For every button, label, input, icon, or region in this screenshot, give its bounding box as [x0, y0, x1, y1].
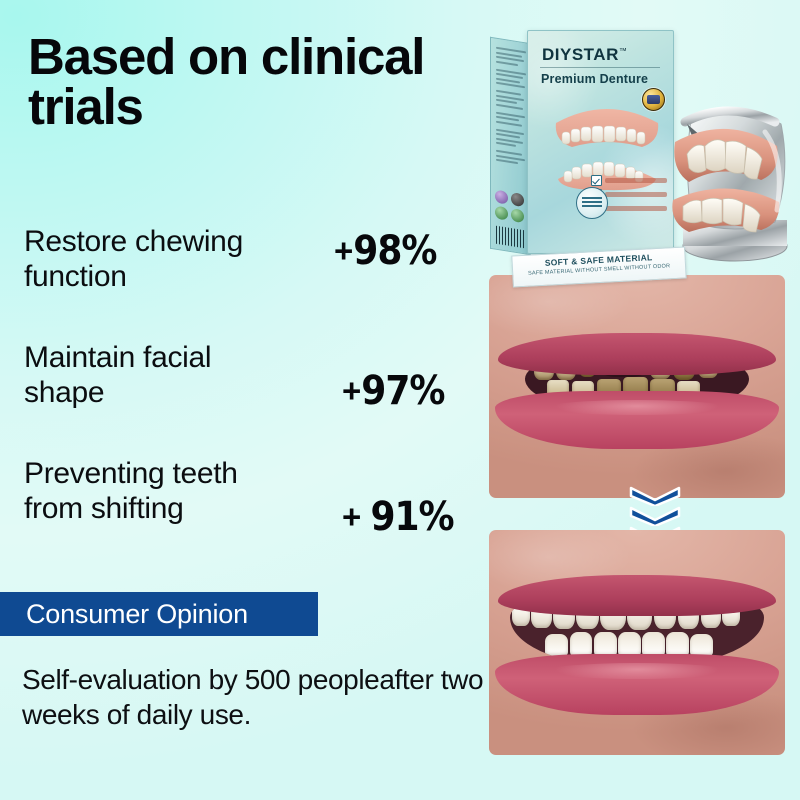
- plus-sign-2: +: [342, 372, 361, 409]
- package-barcode: [496, 226, 526, 249]
- before-photo: [489, 275, 785, 498]
- page-title: Based on clinical trials: [28, 32, 488, 132]
- product-package: DIYSTAR™ Premium Denture: [487, 22, 800, 277]
- dental-model: [657, 80, 797, 265]
- trademark-symbol: ™: [619, 46, 628, 55]
- percent-value-1: 98%: [353, 228, 436, 274]
- after-photo: [489, 530, 785, 755]
- chevron-down-icon: [627, 486, 683, 506]
- after-upper-lip: [498, 575, 776, 616]
- product-subtitle: Premium Denture: [541, 72, 648, 86]
- consumer-opinion-band: Consumer Opinion: [0, 592, 318, 636]
- benefit-percent-3: + 91%: [342, 494, 454, 540]
- certification-emblem-icon: [576, 187, 608, 219]
- benefit-label-1: Restore chewing function: [24, 224, 324, 294]
- before-upper-lip: [498, 333, 776, 375]
- package-instructions-text: [496, 47, 526, 168]
- package-front-panel: DIYSTAR™ Premium Denture: [527, 30, 674, 254]
- check-icon: [591, 175, 602, 186]
- plus-sign-3: +: [342, 498, 370, 535]
- percent-value-2: 97%: [361, 368, 444, 414]
- chevron-down-icon: [627, 506, 683, 526]
- consumer-opinion-label: Consumer Opinion: [26, 599, 248, 630]
- brand-text: DIYSTAR: [542, 45, 619, 64]
- benefit-percent-2: +97%: [342, 368, 444, 414]
- benefit-label-3: Preventing teeth from shifting: [24, 456, 324, 526]
- package-side-panel: [490, 37, 531, 255]
- brand-name: DIYSTAR™: [542, 45, 627, 65]
- promo-poster: Based on clinical trials Restore chewing…: [0, 0, 800, 800]
- benefit-label-2: Maintain facial shape: [24, 340, 324, 410]
- consumer-opinion-body: Self-evaluation by 500 peopleafter two w…: [22, 662, 492, 732]
- benefit-percent-1: +98%: [334, 228, 436, 274]
- feature-check-item: [591, 175, 667, 186]
- package-certification-badges: [495, 190, 527, 224]
- percent-value-3: 91%: [370, 494, 453, 540]
- plus-sign-1: +: [334, 232, 353, 269]
- brand-divider: [540, 67, 660, 68]
